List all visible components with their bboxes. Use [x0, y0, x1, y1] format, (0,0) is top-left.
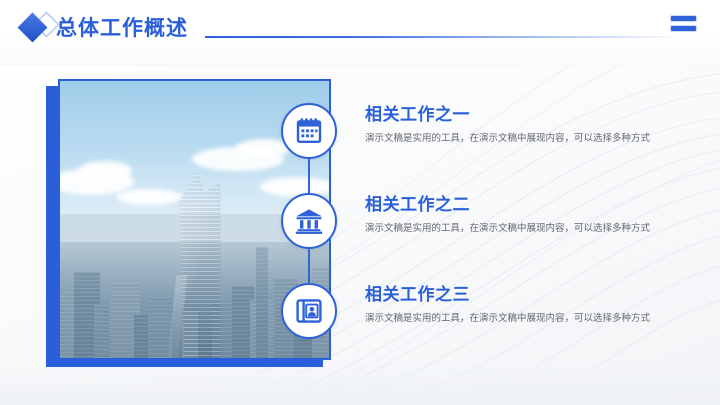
row-1-text: 相关工作之一 演示文稿是实用的工具，在演示文稿中展现内容，可以选择多种方式 — [365, 103, 701, 146]
page-title: 总体工作概述 — [56, 12, 188, 42]
row-3-title: 相关工作之三 — [365, 283, 701, 307]
row-1-description: 演示文稿是实用的工具，在演示文稿中展现内容，可以选择多种方式 — [365, 132, 701, 146]
bank-building-icon — [294, 206, 324, 236]
row-2-text: 相关工作之二 演示文稿是实用的工具，在演示文稿中展现内容，可以选择多种方式 — [365, 193, 701, 236]
row-3-text: 相关工作之三 演示文稿是实用的工具，在演示文稿中展现内容，可以选择多种方式 — [365, 283, 701, 326]
photo-cloud — [78, 161, 132, 181]
row-2-title: 相关工作之二 — [365, 193, 701, 217]
address-book-icon-circle[interactable] — [281, 283, 337, 339]
title-underline — [205, 36, 685, 38]
bank-building-icon-circle[interactable] — [281, 193, 337, 249]
calendar-icon-circle[interactable] — [281, 103, 337, 159]
row-1-title: 相关工作之一 — [365, 103, 701, 127]
calendar-icon — [294, 116, 324, 146]
row-3-description: 演示文稿是实用的工具，在演示文稿中展现内容，可以选择多种方式 — [365, 312, 701, 326]
content-row-3[interactable]: 相关工作之三 演示文稿是实用的工具，在演示文稿中展现内容，可以选择多种方式 — [281, 283, 701, 339]
address-book-icon — [294, 296, 324, 326]
content-row-1[interactable]: 相关工作之一 演示文稿是实用的工具，在演示文稿中展现内容，可以选择多种方式 — [281, 103, 701, 159]
diamond-logo-icon — [14, 11, 62, 45]
menu-bars-icon[interactable] — [671, 16, 696, 31]
menu-bar-top — [671, 16, 696, 21]
slide-canvas: 总体工作概述 — [0, 0, 720, 405]
slide-header: 总体工作概述 — [0, 0, 720, 56]
content-row-2[interactable]: 相关工作之二 演示文稿是实用的工具，在演示文稿中展现内容，可以选择多种方式 — [281, 193, 701, 249]
menu-bar-bottom — [671, 26, 696, 31]
photo-cloud — [116, 189, 182, 205]
row-2-description: 演示文稿是实用的工具，在演示文稿中展现内容，可以选择多种方式 — [365, 222, 701, 236]
